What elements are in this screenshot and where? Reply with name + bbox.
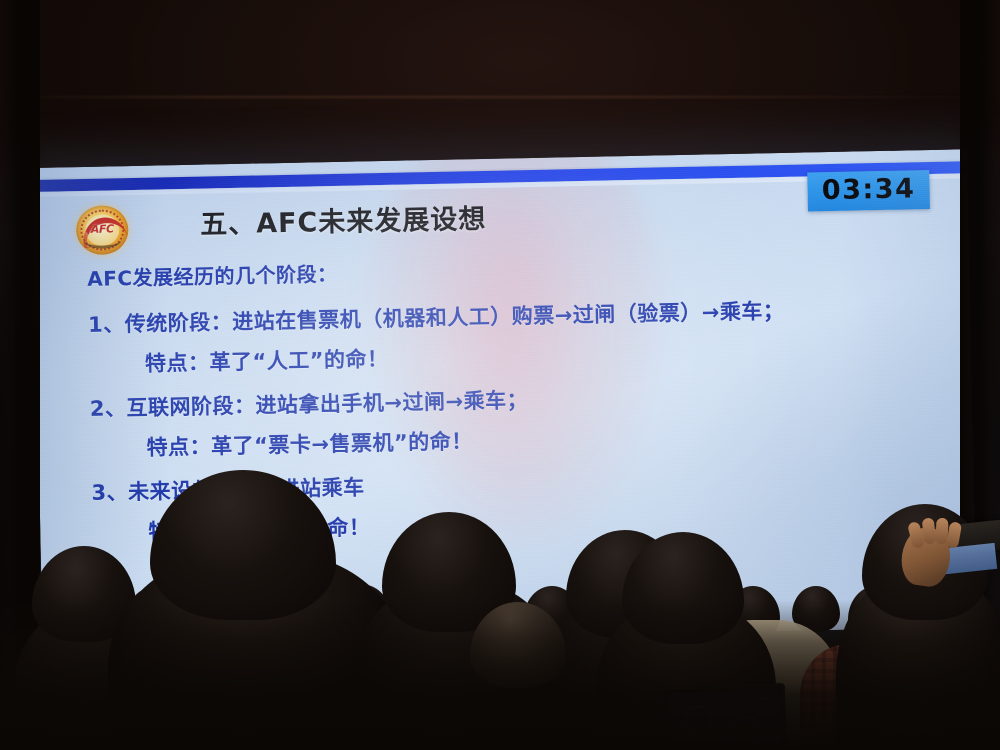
afc-logo-arc [83, 231, 121, 249]
wall-post-left [0, 0, 40, 750]
wall-post-right [960, 0, 1000, 750]
slide-line-sub-3: 特点：革了“？”的命！ [148, 499, 974, 546]
slide-body: AFC发展经历的几个阶段： 1、传统阶段：进站在售票机（机器和人工）购票→过闸（… [35, 245, 975, 562]
slide-line-item-2: 2、互联网阶段：进站拿出手机→过闸→乘车； [90, 375, 972, 423]
wall-seam [0, 96, 1000, 98]
slide-line-sub-2: 特点：革了“票卡→售票机”的命！ [146, 415, 972, 462]
countdown-timer: 03:34 [807, 170, 930, 211]
slide-line-item-3: 3、未来设想：无感进站乘车 [91, 459, 973, 507]
slide-line-sub-1: 特点：革了“人工”的命！ [145, 331, 971, 378]
conference-photo: AFC 五、AFC未来发展设想 03:34 AFC发展经历的几个阶段： 1、传统… [0, 0, 1000, 750]
slide-title: 五、AFC未来发展设想 [200, 197, 487, 242]
projection-screen: AFC 五、AFC未来发展设想 03:34 AFC发展经历的几个阶段： 1、传统… [33, 149, 976, 646]
slide-line-item-1: 1、传统阶段：进站在售票机（机器和人工）购票→过闸（验票）→乘车； [88, 291, 970, 339]
